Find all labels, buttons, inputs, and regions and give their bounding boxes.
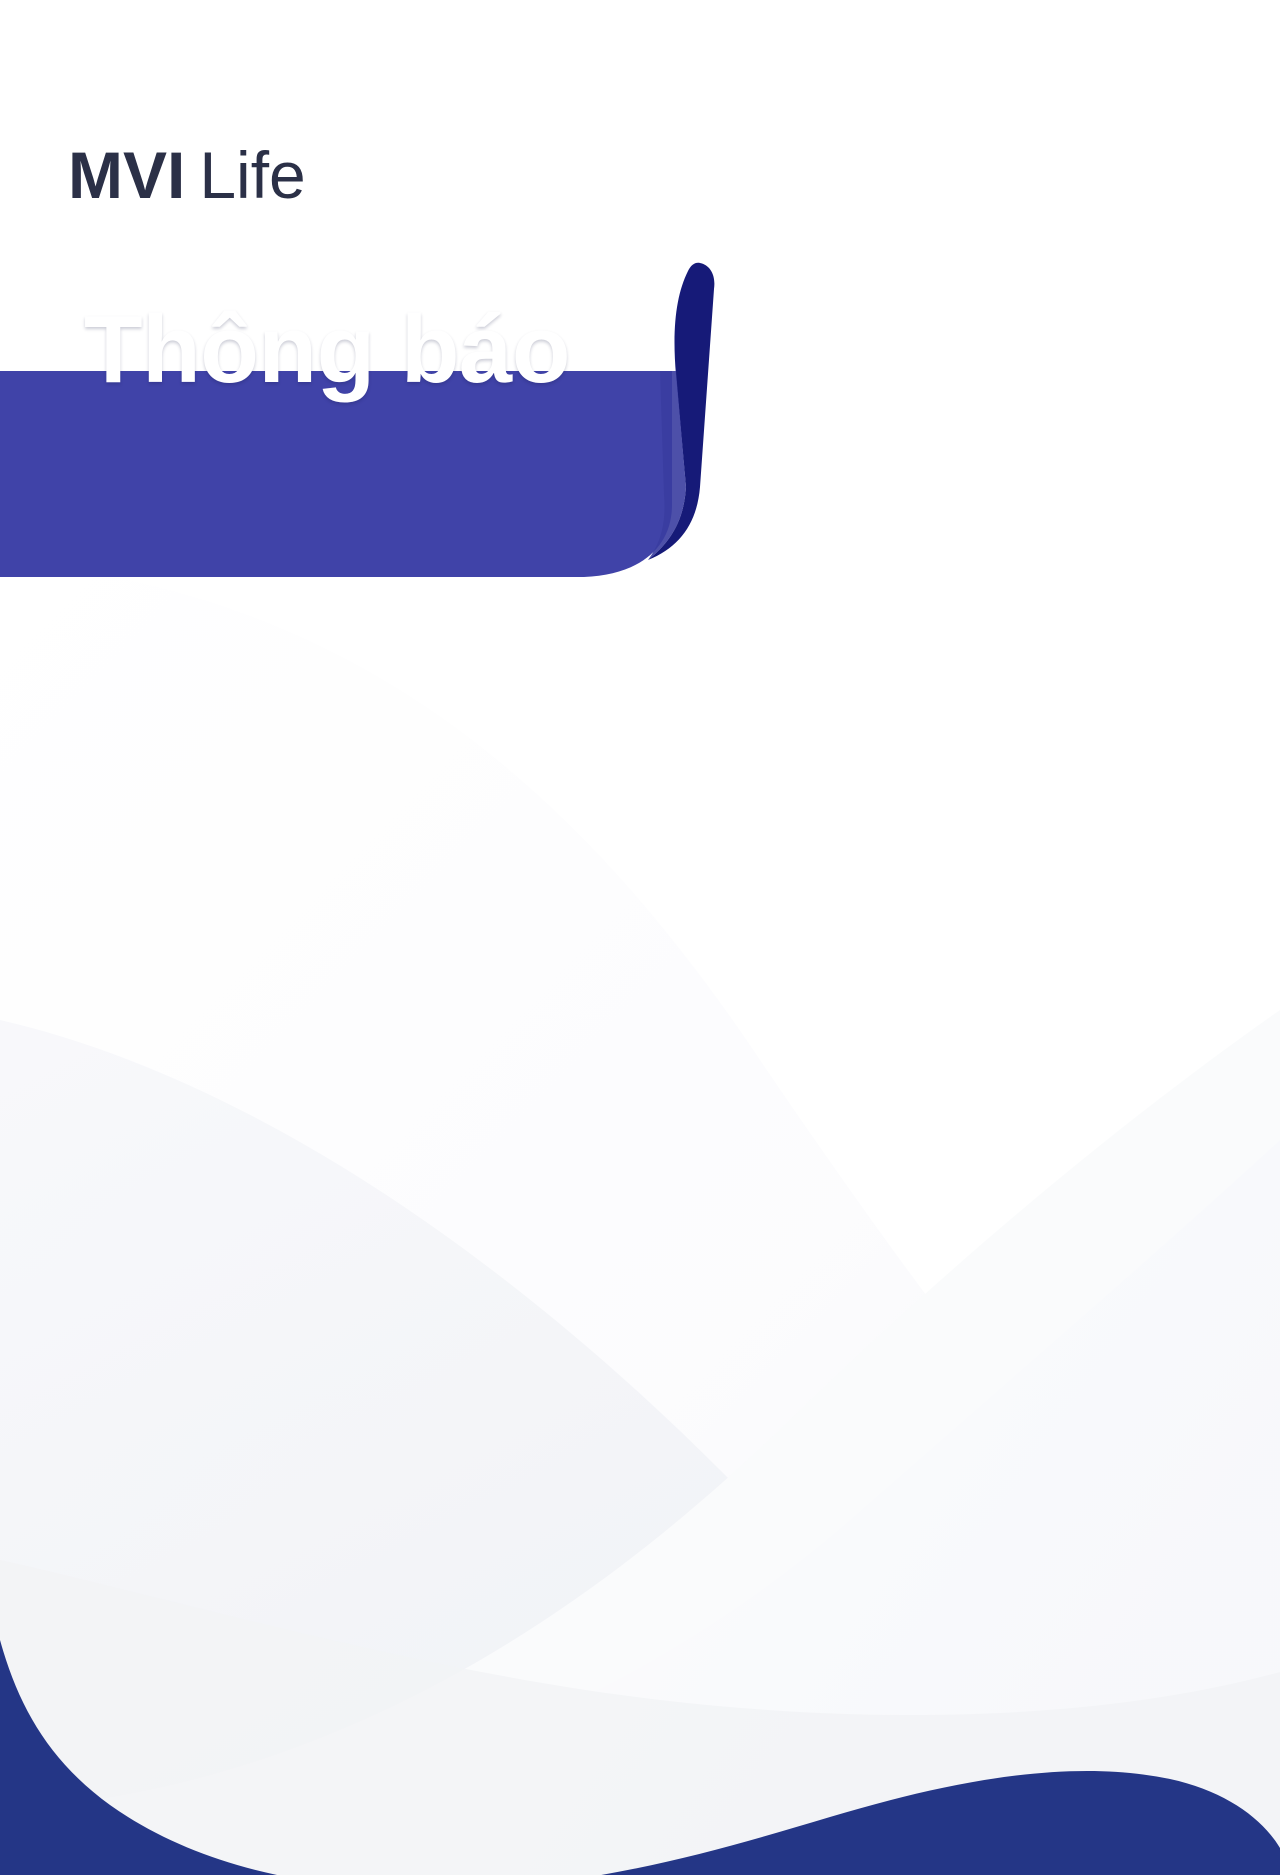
brand-logo: MVILife xyxy=(68,142,306,208)
notice-ribbon: Thông báo xyxy=(0,255,760,585)
navy-bottom-wave xyxy=(0,1640,1280,1875)
logo-mark-text: MVI xyxy=(68,138,185,212)
ribbon-title: Thông báo xyxy=(84,293,570,406)
content-area xyxy=(0,600,1280,1600)
light-field xyxy=(0,1560,1280,1875)
logo-word-text: Life xyxy=(199,138,305,212)
notice-cover-page: MVILife Thông báo xyxy=(0,0,1280,1875)
